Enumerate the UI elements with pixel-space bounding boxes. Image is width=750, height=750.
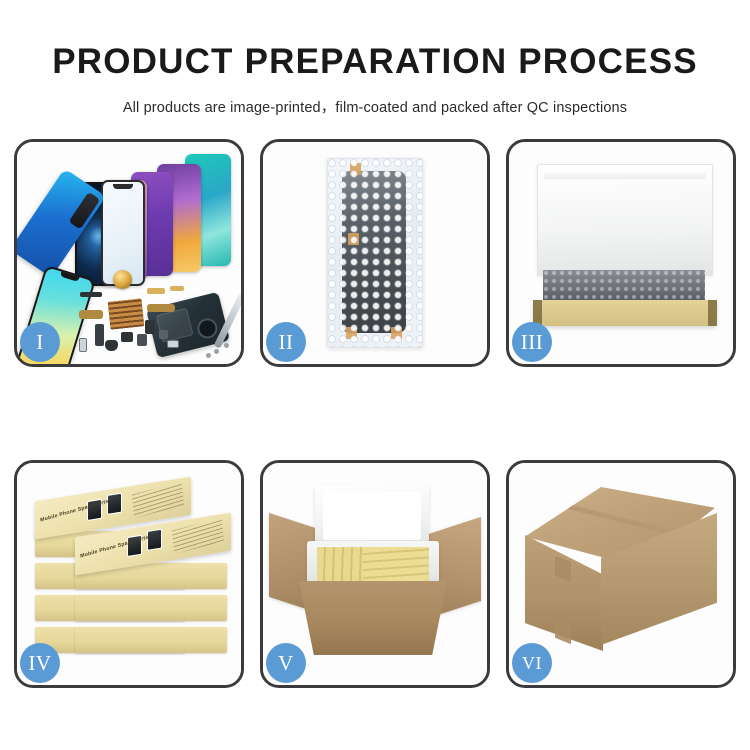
spec-text-lines	[172, 518, 224, 555]
step-panel-4: Mobile Phone Spare Parts Mobile Phone Sp…	[14, 460, 244, 688]
stacked-box	[75, 627, 227, 653]
component-strip-icon	[170, 286, 184, 291]
step-badge-2: II	[266, 322, 306, 362]
chip-component-icon	[105, 340, 118, 351]
chip-component-icon	[137, 334, 147, 346]
step-panel-5: V	[260, 460, 490, 688]
screw-icon	[214, 349, 219, 354]
process-step-grid: I II III	[14, 139, 736, 689]
page-title: PRODUCT PREPARATION PROCESS	[0, 0, 750, 79]
chip-component-icon	[79, 338, 87, 352]
white-foam-lid-icon	[537, 164, 713, 276]
step-badge-6: VI	[512, 643, 552, 683]
step-badge-1: I	[20, 322, 60, 362]
foam-lid-icon	[315, 485, 429, 547]
step-panel-2: II	[260, 139, 490, 367]
component-strip-icon	[147, 288, 165, 294]
header: PRODUCT PREPARATION PROCESS All products…	[0, 0, 750, 117]
step-badge-5: V	[266, 643, 306, 683]
chip-component-icon	[159, 330, 168, 339]
yellow-box-front-icon	[533, 300, 717, 326]
page-subtitle: All products are image-printed，film-coat…	[0, 79, 750, 117]
stacked-box	[75, 595, 227, 621]
screw-icon	[206, 353, 211, 358]
chip-component-icon	[121, 332, 133, 342]
bubble-texture-overlay	[328, 159, 422, 347]
flex-cable-icon	[95, 324, 104, 346]
grey-bubble-padding-icon	[543, 270, 705, 304]
step-badge-4: IV	[20, 643, 60, 683]
phone-thumbnail-icon	[107, 493, 122, 515]
step-panel-3: III	[506, 139, 736, 367]
chip-component-icon	[167, 340, 179, 348]
step-badge-3: III	[512, 322, 552, 362]
product-preparation-infographic: PRODUCT PREPARATION PROCESS All products…	[0, 0, 750, 750]
screw-icon	[224, 343, 229, 348]
flex-cable-icon	[145, 320, 155, 334]
flex-cable-icon	[147, 304, 175, 312]
carton-body-icon	[299, 581, 447, 655]
gold-component-icon	[113, 270, 132, 289]
flex-cable-icon	[79, 310, 103, 319]
step-panel-6: VI	[506, 460, 736, 688]
component-strip-icon	[80, 292, 102, 297]
bubble-wrap-package-icon	[327, 158, 423, 348]
box-stack: Mobile Phone Spare Parts Mobile Phone Sp…	[31, 489, 231, 671]
copper-shield-icon	[108, 298, 145, 329]
step-panel-1: I	[14, 139, 244, 367]
spec-text-lines	[132, 482, 184, 519]
phone-thumbnail-icon	[147, 529, 162, 551]
